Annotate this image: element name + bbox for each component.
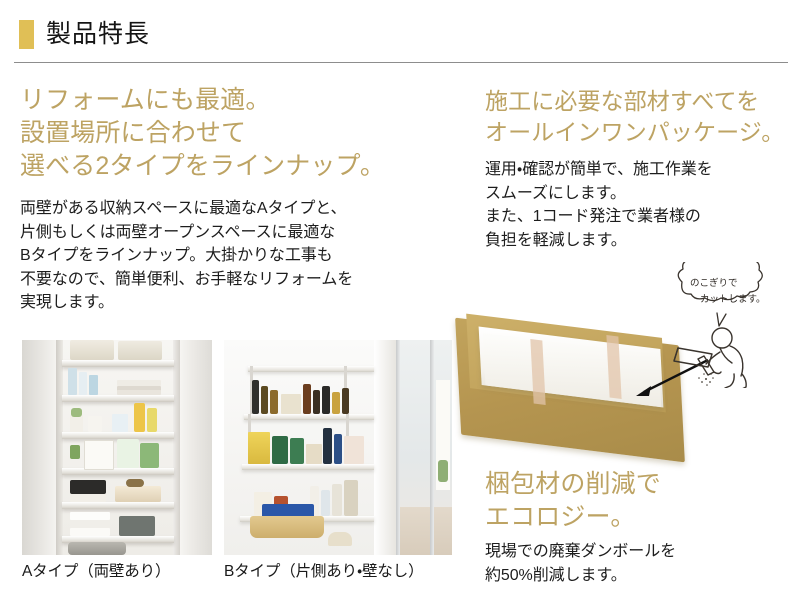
photo-type-a xyxy=(22,340,212,555)
left-column: リフォームにも最適。 設置場所に合わせて 選べる2タイプをラインナップ。 両壁が… xyxy=(20,84,460,315)
section-header: 製品特長 xyxy=(19,20,150,49)
eco-block: 梱包材の削減で エコロジー。 現場での廃棄ダンボールを 約50%削減します。 xyxy=(485,468,795,587)
eco-heading: 梱包材の削減で エコロジー。 xyxy=(485,468,795,534)
eco-body-text: 現場での廃棄ダンボールを 約50%削減します。 xyxy=(485,540,795,587)
saw-cutting-illustration: のこぎりで カットします。 xyxy=(660,262,798,388)
photo-type-b xyxy=(224,340,452,555)
speech-line-1: のこぎりで xyxy=(690,277,738,289)
speech-line-2: カットします。 xyxy=(700,294,766,305)
photo-block-type-a: Aタイプ（両壁あり） xyxy=(22,340,212,582)
page-title: 製品特長 xyxy=(46,20,150,49)
photo-block-type-b: Bタイプ（片側あり・壁なし） xyxy=(224,340,452,582)
left-heading: リフォームにも最適。 設置場所に合わせて 選べる2タイプをラインナップ。 xyxy=(20,84,460,183)
header-divider xyxy=(14,62,788,63)
right-heading: 施工に必要な部材すべてを オールインワンパッケージ。 xyxy=(485,86,795,148)
right-body-text: 運用・確認が簡単で、施工作業を スムーズにします。 また、1コード発注で業者様の… xyxy=(485,158,795,252)
caption-type-b: Bタイプ（片側あり・壁なし） xyxy=(224,562,452,582)
photo-row: Aタイプ（両壁あり） xyxy=(22,340,452,582)
gold-square-marker-icon xyxy=(19,20,34,49)
left-body-text: 両壁がある収納スペースに最適なAタイプと、 片側もしくは両壁オープンスペースに最… xyxy=(20,197,460,315)
right-column: 施工に必要な部材すべてを オールインワンパッケージ。 運用・確認が簡単で、施工作… xyxy=(485,86,795,252)
caption-type-a: Aタイプ（両壁あり） xyxy=(22,562,212,582)
